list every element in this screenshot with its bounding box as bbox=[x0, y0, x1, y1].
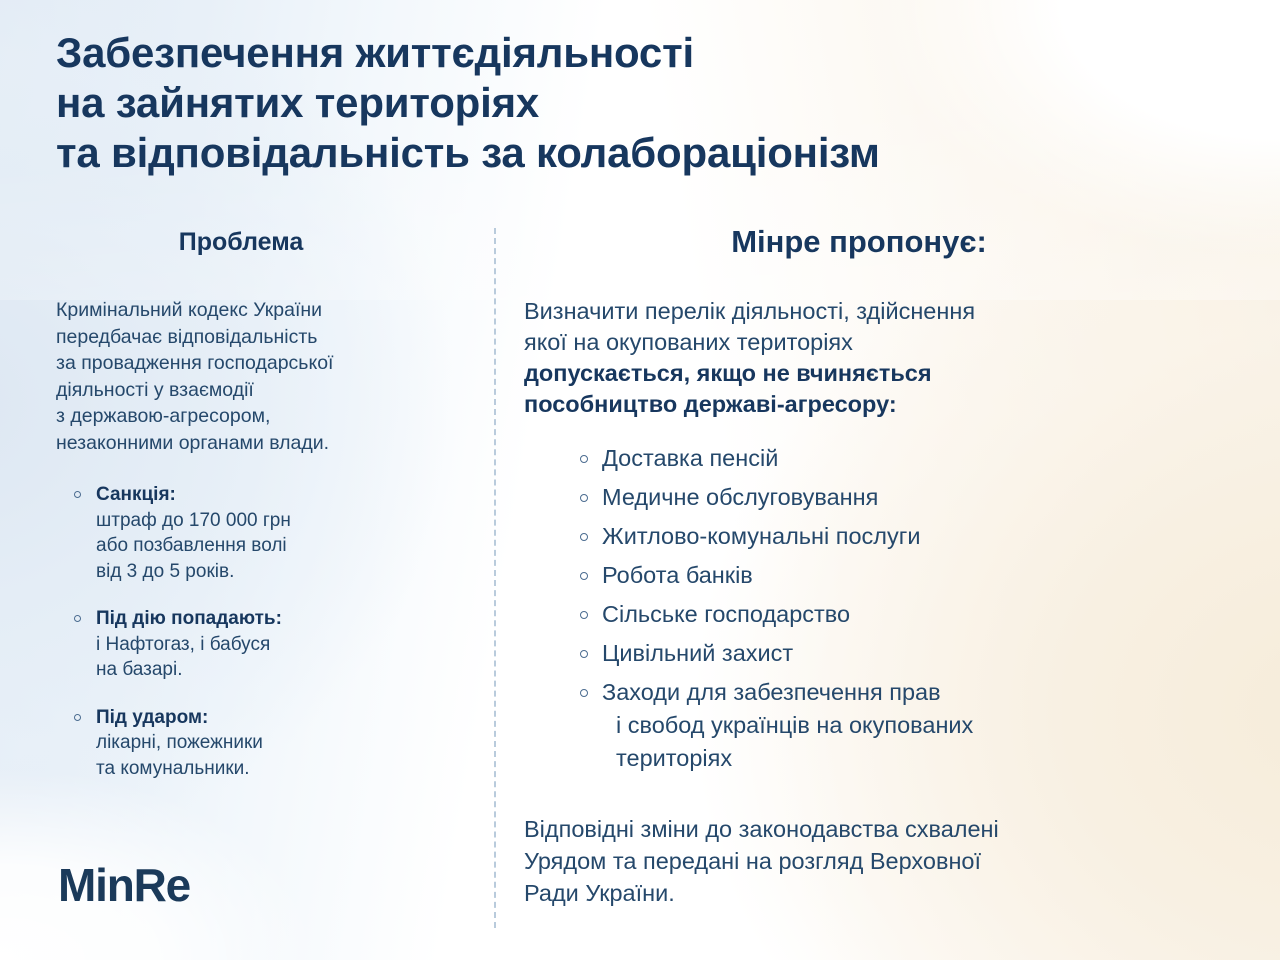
problem-heading: Проблема bbox=[56, 228, 456, 257]
allowed-activities-list: Доставка пенсій Медичне обслуговування Ж… bbox=[524, 442, 1224, 775]
bullet-line: та комунальники. bbox=[96, 756, 456, 782]
problem-bullet-list: Санкція: штраф до 170 000 грн або позбав… bbox=[56, 482, 456, 781]
problem-intro-paragraph: Кримінальний кодекс України передбачає в… bbox=[56, 297, 456, 456]
minre-logo: MinRe bbox=[58, 858, 190, 912]
proposal-lead-paragraph: Визначити перелік діяльності, здійснення… bbox=[524, 296, 1224, 420]
list-item: Сільське господарство bbox=[580, 598, 1224, 631]
list-item: Робота банків bbox=[580, 559, 1224, 592]
problem-intro-line-4: діяльності у взаємодії bbox=[56, 377, 456, 404]
page-title-line-3: та відповідальність за колабораціонізм bbox=[56, 128, 1156, 178]
bullet-title: Санкція: bbox=[96, 482, 456, 508]
bullet-circle-icon bbox=[74, 491, 81, 498]
bullet-circle-icon bbox=[580, 572, 588, 580]
bullet-line: лікарні, пожежники bbox=[96, 730, 456, 756]
list-item: Цивільний захист bbox=[580, 637, 1224, 670]
bullet-circle-icon bbox=[580, 611, 588, 619]
problem-intro-line-1: Кримінальний кодекс України bbox=[56, 297, 456, 324]
list-item: Житлово-комунальні послуги bbox=[580, 520, 1224, 553]
proposal-closing-paragraph: Відповідні зміни до законодавства схвале… bbox=[524, 813, 1224, 909]
activity-label-cont: територіях bbox=[602, 742, 1224, 775]
bullet-circle-icon bbox=[580, 689, 588, 697]
proposal-lead-line-2: якої на окупованих територіях bbox=[524, 327, 1224, 358]
bullet-circle-icon bbox=[580, 533, 588, 541]
closing-line-1: Відповідні зміни до законодавства схвале… bbox=[524, 813, 1224, 845]
bullet-circle-icon bbox=[580, 455, 588, 463]
list-item: Санкція: штраф до 170 000 грн або позбав… bbox=[72, 482, 456, 584]
proposal-lead-line-1: Визначити перелік діяльності, здійснення bbox=[524, 296, 1224, 327]
page-title-line-1: Забезпечення життєдіяльності bbox=[56, 28, 1156, 78]
activity-label: Медичне обслуговування bbox=[602, 481, 1224, 514]
proposal-lead-line-4: пособництво державі-агресору: bbox=[524, 389, 1224, 420]
closing-line-3: Ради України. bbox=[524, 877, 1224, 909]
problem-intro-line-2: передбачає відповідальність bbox=[56, 324, 456, 351]
activity-label: Заходи для забезпечення прав bbox=[602, 676, 1224, 709]
list-item: Доставка пенсій bbox=[580, 442, 1224, 475]
activity-label-cont: і свобод українців на окупованих bbox=[602, 709, 1224, 742]
problem-column: Проблема Кримінальний кодекс України пер… bbox=[56, 228, 456, 781]
list-item: Заходи для забезпечення прав і свобод ук… bbox=[580, 676, 1224, 775]
proposal-column: Мінре пропонує: Визначити перелік діяльн… bbox=[524, 224, 1224, 909]
proposal-lead-line-3: допускається, якщо не вчиняється bbox=[524, 358, 1224, 389]
problem-intro-line-3: за провадження господарської bbox=[56, 350, 456, 377]
activity-label: Житлово-комунальні послуги bbox=[602, 520, 1224, 553]
list-item: Під дію попадають: і Нафтогаз, і бабуся … bbox=[72, 606, 456, 683]
bullet-line: і Нафтогаз, і бабуся bbox=[96, 632, 456, 658]
activity-label: Сільське господарство bbox=[602, 598, 1224, 631]
bullet-circle-icon bbox=[580, 494, 588, 502]
proposal-heading: Мінре пропонує: bbox=[524, 224, 1224, 260]
closing-line-2: Урядом та передані на розгляд Верховної bbox=[524, 845, 1224, 877]
bullet-title: Під дію попадають: bbox=[96, 606, 456, 632]
activity-label: Робота банків bbox=[602, 559, 1224, 592]
infographic-slide: Забезпечення життєдіяльності на зайнятих… bbox=[0, 0, 1280, 960]
bullet-title: Під ударом: bbox=[96, 705, 456, 731]
list-item: Медичне обслуговування bbox=[580, 481, 1224, 514]
activity-label: Цивільний захист bbox=[602, 637, 1224, 670]
bullet-line: або позбавлення волі bbox=[96, 533, 456, 559]
bullet-line: на базарі. bbox=[96, 657, 456, 683]
page-title: Забезпечення життєдіяльності на зайнятих… bbox=[56, 28, 1156, 178]
column-divider bbox=[494, 228, 496, 928]
bullet-circle-icon bbox=[580, 650, 588, 658]
bullet-line: від 3 до 5 років. bbox=[96, 559, 456, 585]
bullet-circle-icon bbox=[74, 615, 81, 622]
list-item: Під ударом: лікарні, пожежники та комуна… bbox=[72, 705, 456, 782]
bullet-circle-icon bbox=[74, 714, 81, 721]
bullet-line: штраф до 170 000 грн bbox=[96, 508, 456, 534]
problem-intro-line-5: з державою-агресором, bbox=[56, 403, 456, 430]
problem-intro-line-6: незаконними органами влади. bbox=[56, 430, 456, 457]
page-title-line-2: на зайнятих територіях bbox=[56, 78, 1156, 128]
activity-label: Доставка пенсій bbox=[602, 442, 1224, 475]
